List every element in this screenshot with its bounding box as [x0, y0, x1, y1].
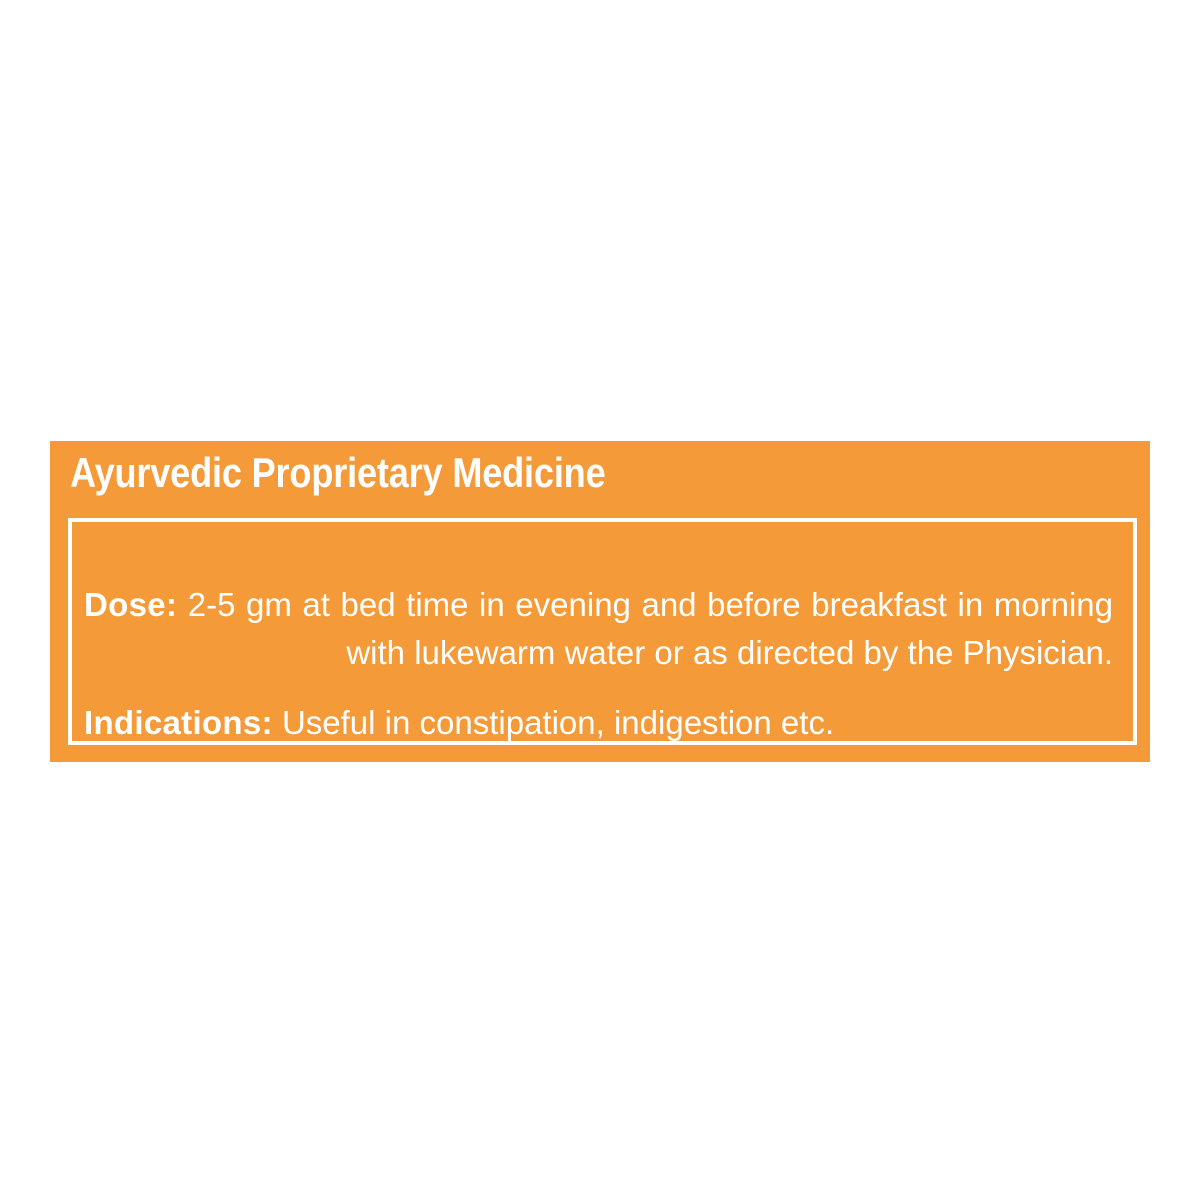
dose-text: 2-5 gm at bed time in evening and before… [188, 586, 1113, 671]
ayurvedic-medicine-label-panel: Ayurvedic Proprietary Medicine Dose: 2-5… [50, 441, 1150, 762]
info-box: Dose: 2-5 gm at bed time in evening and … [68, 518, 1137, 745]
indications-paragraph: Indications: Useful in constipation, ind… [84, 703, 1113, 743]
page-title: Ayurvedic Proprietary Medicine [70, 447, 964, 499]
indications-text: Useful in constipation, indigestion etc. [282, 704, 834, 741]
indications-label: Indications: [84, 704, 273, 741]
dose-paragraph: Dose: 2-5 gm at bed time in evening and … [84, 581, 1113, 677]
dose-label: Dose: [84, 586, 177, 623]
page-canvas: Ayurvedic Proprietary Medicine Dose: 2-5… [0, 0, 1200, 1200]
info-box-inner: Dose: 2-5 gm at bed time in evening and … [84, 522, 1121, 741]
